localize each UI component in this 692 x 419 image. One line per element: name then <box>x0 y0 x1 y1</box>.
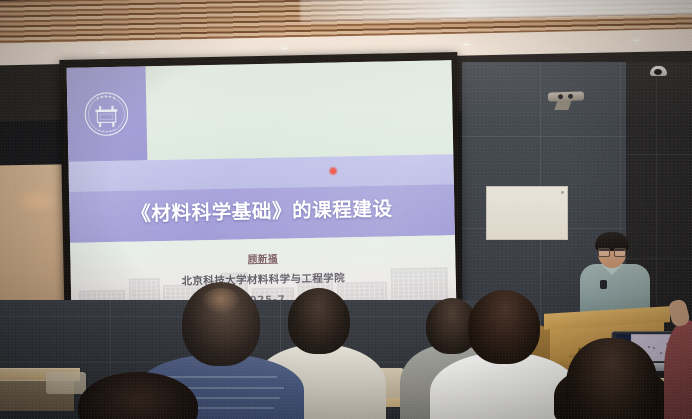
dome-camera-icon <box>650 66 667 76</box>
lecture-hall-photo: 《材料科学基础》的课程建设 顾新福 北京科技大学材料科学与工程学院 2025-7… <box>0 0 692 419</box>
audience-member-long-hair <box>548 338 676 419</box>
person-head <box>78 372 198 419</box>
downlight-icon <box>96 50 109 55</box>
person-scalp <box>202 288 240 314</box>
audience-member-maroon-right <box>664 290 692 419</box>
downlight-icon <box>278 46 291 51</box>
presenter-person <box>578 228 652 314</box>
person-head <box>566 338 658 419</box>
ustb-seal-logo-icon <box>83 91 130 138</box>
wall-speaker-icon <box>548 91 584 101</box>
person-head <box>468 290 540 364</box>
wall-light-reflection <box>14 188 60 214</box>
tile-seam <box>626 154 692 155</box>
audience-member-foreground-dark-hair <box>78 372 198 419</box>
downlight-icon <box>460 42 473 47</box>
slide-logo-panel <box>67 66 148 162</box>
lapel-microphone-icon <box>600 280 607 289</box>
person-torso <box>664 320 692 419</box>
glasses-icon <box>598 248 626 255</box>
downlight-icon <box>630 38 643 43</box>
wall-whiteboard-panel <box>486 186 568 240</box>
